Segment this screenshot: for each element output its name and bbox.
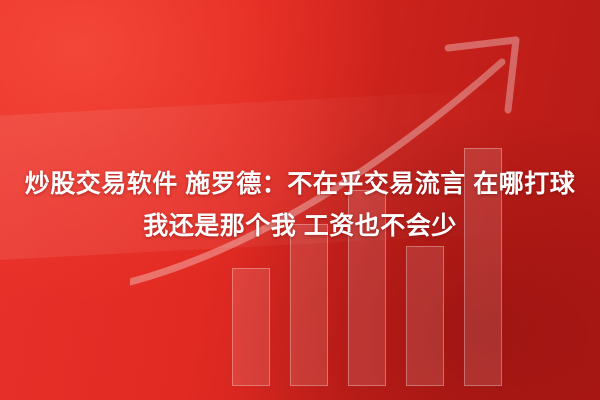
headline: 炒股交易软件 施罗德：不在乎交易流言 在哪打球 我还是那个我 工资也不会少 xyxy=(0,0,600,400)
headline-line-2: 我还是那个我 工资也不会少 xyxy=(143,210,456,243)
promo-banner: 炒股交易软件 施罗德：不在乎交易流言 在哪打球 我还是那个我 工资也不会少 xyxy=(0,0,600,400)
headline-line-1: 炒股交易软件 施罗德：不在乎交易流言 在哪打球 xyxy=(25,168,575,201)
